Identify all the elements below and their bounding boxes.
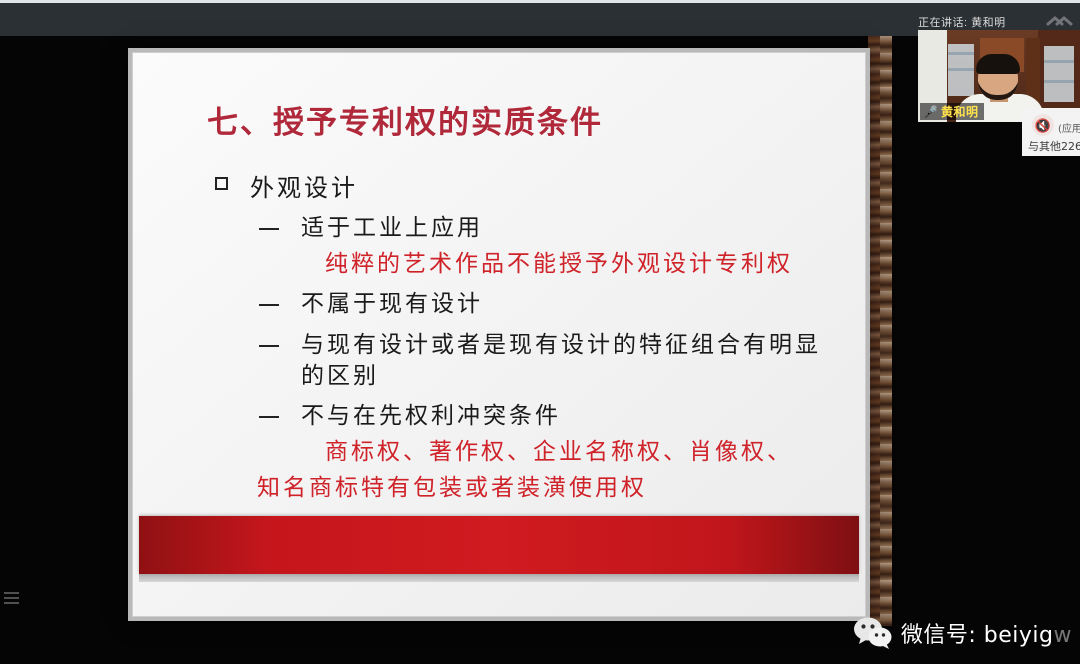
shelf-decor bbox=[948, 68, 974, 71]
bullet-text: 适于工业上应用 bbox=[301, 213, 483, 244]
bullet-text: 外观设计 bbox=[250, 168, 358, 203]
dash-bullet-icon bbox=[259, 345, 279, 347]
bullet-level2: 与现有设计或者是现有设计的特征组合有明显的区别 bbox=[259, 330, 845, 391]
wechat-logo-icon bbox=[853, 616, 893, 650]
wechat-id-text: 微信号: beiyigw bbox=[901, 617, 1072, 649]
muted-microphone-icon[interactable]: 🔇 bbox=[1032, 114, 1054, 136]
screen-root: 正在讲话: 黄和明 七、授予专利权的实质条件 外观设计 bbox=[0, 0, 1080, 664]
bullet-level2: 不与在先权利冲突条件 bbox=[259, 401, 845, 432]
dash-bullet-icon bbox=[259, 228, 279, 230]
microphone-icon: 🎤 bbox=[923, 106, 938, 118]
bullet-level2: 不属于现有设计 bbox=[259, 289, 845, 320]
speaking-now-label: 正在讲话: 黄和明 bbox=[918, 14, 1006, 30]
shelf-decor bbox=[1044, 46, 1074, 102]
bullet-text-red: 商标权、著作权、企业名称权、肖像权、 bbox=[325, 438, 845, 468]
speaker-hair bbox=[976, 54, 1020, 74]
slide-footer-band bbox=[139, 516, 859, 574]
bullet-level2: 适于工业上应用 bbox=[259, 213, 845, 244]
other-participants-label: 与其他226名 bbox=[1028, 138, 1080, 154]
wechat-id-tail: w bbox=[1054, 623, 1073, 648]
bullet-text: 与现有设计或者是现有设计的特征组合有明显的区别 bbox=[301, 330, 821, 391]
slide-band-shadow bbox=[139, 574, 859, 582]
participant-name: 黄和明 bbox=[941, 103, 979, 120]
panel-side-note: (应用) bbox=[1058, 120, 1080, 135]
shelf-decor bbox=[1044, 60, 1074, 63]
bullet-text: 不属于现有设计 bbox=[301, 289, 483, 320]
dash-bullet-icon bbox=[259, 416, 279, 418]
list-menu-icon[interactable] bbox=[4, 592, 22, 608]
bullet-level1: 外观设计 bbox=[215, 168, 845, 203]
shelf-decor bbox=[1044, 80, 1074, 83]
bullet-text-red: 纯粹的艺术作品不能授予外观设计专利权 bbox=[325, 250, 845, 280]
bullet-text-red: 知名商标特有包装或者装潢使用权 bbox=[257, 474, 845, 504]
wechat-id-main: 微信号: beiyig bbox=[901, 623, 1054, 648]
square-bullet-icon bbox=[215, 177, 228, 190]
participant-name-tag: 🎤 黄和明 bbox=[920, 103, 984, 120]
bullet-text: 不与在先权利冲突条件 bbox=[301, 401, 561, 432]
wall-texture-strip-inner bbox=[880, 36, 892, 626]
shelf-decor bbox=[948, 52, 974, 55]
wechat-watermark: 微信号: beiyigw bbox=[853, 616, 1072, 650]
chevron-collapse-icon[interactable] bbox=[1044, 13, 1074, 29]
slide-canvas: 七、授予专利权的实质条件 外观设计 适于工业上应用 纯粹的艺术作品不能授予外观设… bbox=[132, 52, 866, 617]
dash-bullet-icon bbox=[259, 304, 279, 306]
slide-body: 外观设计 适于工业上应用 纯粹的艺术作品不能授予外观设计专利权 不属于现有设计 … bbox=[215, 168, 845, 504]
slide-title: 七、授予专利权的实质条件 bbox=[207, 97, 845, 142]
presentation-slide[interactable]: 七、授予专利权的实质条件 外观设计 适于工业上应用 纯粹的艺术作品不能授予外观设… bbox=[128, 48, 870, 621]
